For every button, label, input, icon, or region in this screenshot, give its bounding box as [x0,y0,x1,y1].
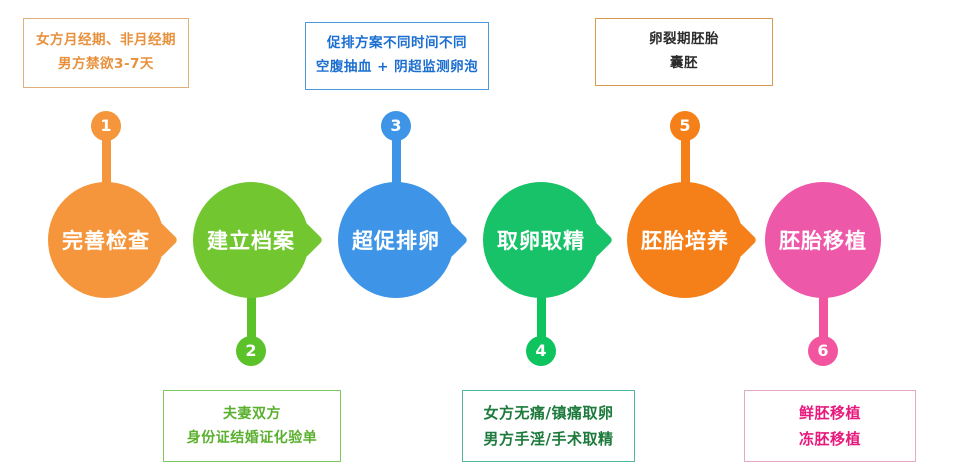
note-box-2: 夫妻双方 身份证结婚证化验单 [163,390,341,462]
note-box-4: 女方无痛/镇痛取卵 男方手淫/手术取精 [462,390,635,462]
step-badge-4: 4 [526,336,556,366]
note-line: 促排方案不同时间不同 [327,32,467,56]
flow-diagram: 女方月经期、非月经期 男方禁欲3-7天 1 完善检查 建立档案 2 夫妻双方 身… [0,0,974,475]
step-badge-1: 1 [91,111,121,141]
note-box-5: 卵裂期胚胎 囊胚 [595,18,773,86]
step-badge-6: 6 [808,336,838,366]
step-circle-3[interactable]: 超促排卵 [338,182,454,298]
step-label: 取卵取精 [497,225,585,255]
note-line: 鲜胚移植 [799,400,861,426]
note-line: 囊胚 [670,52,698,76]
step-circle-2[interactable]: 建立档案 [193,182,309,298]
note-line: 女方月经期、非月经期 [36,29,176,53]
note-box-6: 鲜胚移植 冻胚移植 [744,390,916,462]
note-line: 身份证结婚证化验单 [187,426,318,451]
badge-number: 5 [679,118,690,134]
badge-number: 2 [245,343,256,359]
note-box-3: 促排方案不同时间不同 空腹抽血 + 阴超监测卵泡 [305,22,489,90]
step-badge-3: 3 [381,111,411,141]
step-label: 超促排卵 [352,225,440,255]
note-line: 男方手淫/手术取精 [484,426,614,452]
badge-number: 4 [535,343,546,359]
note-line: 女方无痛/镇痛取卵 [484,400,614,426]
note-line: 空腹抽血 + 阴超监测卵泡 [316,56,478,80]
note-line: 男方禁欲3-7天 [58,53,154,77]
step-circle-5[interactable]: 胚胎培养 [627,182,743,298]
badge-number: 3 [390,118,401,134]
step-badge-2: 2 [236,336,266,366]
step-label: 胚胎培养 [641,225,729,255]
step-label: 完善检查 [62,225,150,255]
note-line: 冻胚移植 [799,426,861,452]
step-circle-4[interactable]: 取卵取精 [483,182,599,298]
badge-number: 6 [817,343,828,359]
note-line: 夫妻双方 [223,402,281,427]
note-line: 卵裂期胚胎 [649,28,719,52]
step-circle-1[interactable]: 完善检查 [48,182,164,298]
step-label: 建立档案 [207,225,295,255]
step-circle-6[interactable]: 胚胎移植 [765,182,881,298]
step-badge-5: 5 [670,111,700,141]
badge-number: 1 [100,118,111,134]
step-label: 胚胎移植 [779,225,867,255]
note-box-1: 女方月经期、非月经期 男方禁欲3-7天 [23,18,189,88]
